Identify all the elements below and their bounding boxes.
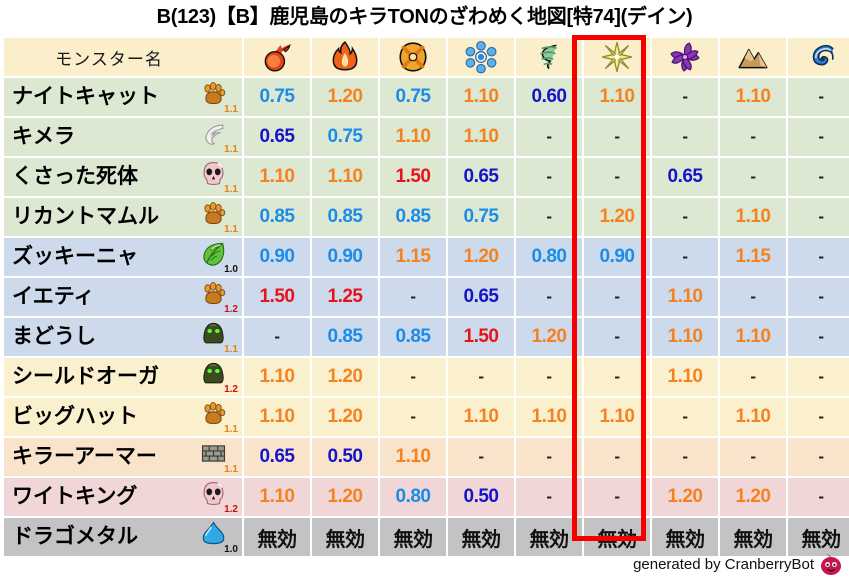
resistance-value-cell: 0.90 [584, 238, 650, 276]
resistance-value-cell: - [584, 278, 650, 316]
resistance-value-cell: 1.50 [380, 158, 446, 196]
resistance-value-cell: 0.65 [244, 438, 310, 476]
resistance-value-cell: - [720, 278, 786, 316]
resistance-value-cell: 0.85 [380, 318, 446, 356]
resistance-value-cell: - [652, 398, 718, 436]
monster-name-cell[interactable]: キメラ1.1 [4, 118, 242, 156]
resistance-value-cell: 1.10 [720, 318, 786, 356]
table-row: キラーアーマー1.10.650.501.10------ [4, 438, 849, 476]
resistance-value-cell: - [516, 118, 582, 156]
monster-version-label: 1.2 [224, 385, 238, 395]
monster-name-cell[interactable]: キラーアーマー1.1 [4, 438, 242, 476]
resistance-value-cell: - [788, 278, 849, 316]
column-header-tornado[interactable] [516, 38, 582, 76]
resistance-value-cell: 0.85 [312, 198, 378, 236]
resistance-value-cell: 1.20 [312, 478, 378, 516]
monster-version-label: 1.1 [224, 225, 238, 235]
resistance-value-cell: 1.10 [448, 398, 514, 436]
resistance-value-cell: 1.10 [448, 78, 514, 116]
monster-badge: 1.2 [198, 360, 238, 394]
table-row: ワイトキング1.21.101.200.800.50--1.201.20- [4, 478, 849, 516]
column-header-snowflake[interactable] [448, 38, 514, 76]
resistance-value-cell: 無効 [244, 518, 310, 556]
monster-name-label: シールドオーガ [12, 358, 159, 396]
column-header-flame[interactable] [312, 38, 378, 76]
footer-credit-label: generated by CranberryBot [633, 556, 814, 573]
resistance-value-cell: 0.85 [380, 198, 446, 236]
resistance-value-cell: - [516, 198, 582, 236]
monster-name-cell[interactable]: ドラゴメタル1.0 [4, 518, 242, 556]
slime-blue-icon [200, 520, 227, 547]
monster-name-label: イエティ [12, 278, 95, 316]
resistance-value-cell: 1.20 [312, 78, 378, 116]
resistance-value-cell: 無効 [380, 518, 446, 556]
monster-name-label: キラーアーマー [12, 438, 157, 476]
monster-badge: 1.1 [198, 400, 238, 434]
resistance-value-cell: 1.10 [584, 78, 650, 116]
resistance-table: モンスター名 ナイトキャット1.10.751.200.751.100.601.1… [2, 36, 849, 558]
table-header-row: モンスター名 [4, 38, 849, 76]
resistance-value-cell: - [788, 198, 849, 236]
wave-icon [804, 40, 838, 74]
resistance-value-cell: 1.20 [516, 318, 582, 356]
dark-pinwheel-icon [668, 40, 702, 74]
monster-version-label: 1.2 [224, 305, 238, 315]
monster-version-label: 1.1 [224, 105, 238, 115]
resistance-value-cell: - [720, 358, 786, 396]
resistance-value-cell: 1.10 [448, 118, 514, 156]
resistance-value-cell: 1.10 [244, 398, 310, 436]
resistance-value-cell: 1.20 [720, 478, 786, 516]
resistance-value-cell: 1.20 [584, 198, 650, 236]
resistance-value-cell: - [516, 358, 582, 396]
table-row: ビッグハット1.11.101.20-1.101.101.10-1.10- [4, 398, 849, 436]
column-header-explosion[interactable] [380, 38, 446, 76]
resistance-value-cell: - [652, 118, 718, 156]
resistance-value-cell: 0.80 [380, 478, 446, 516]
resistance-value-cell: - [448, 358, 514, 396]
meteor-fire-icon [260, 40, 294, 74]
table-row: まどうし1.1-0.850.851.501.20-1.101.10- [4, 318, 849, 356]
resistance-value-cell: - [516, 478, 582, 516]
resistance-value-cell: - [380, 278, 446, 316]
resistance-value-cell: 1.50 [244, 278, 310, 316]
monster-name-label: まどうし [12, 318, 96, 356]
resistance-value-cell: 1.20 [312, 358, 378, 396]
resistance-value-cell: - [788, 78, 849, 116]
column-header-mountain[interactable] [720, 38, 786, 76]
monster-name-label: ドラゴメタル [12, 518, 138, 556]
monster-name-cell[interactable]: ナイトキャット1.1 [4, 78, 242, 116]
monster-name-label: ナイトキャット [12, 78, 159, 116]
column-header-monster-name: モンスター名 [4, 38, 242, 76]
wing-icon [200, 120, 227, 147]
resistance-value-cell: 1.10 [244, 158, 310, 196]
resistance-value-cell: 0.50 [312, 438, 378, 476]
monster-version-label: 1.2 [224, 505, 238, 515]
monster-name-label: リカントマムル [12, 198, 159, 236]
resistance-value-cell: - [788, 478, 849, 516]
column-header-wave[interactable] [788, 38, 849, 76]
monster-badge: 1.1 [198, 440, 238, 474]
resistance-value-cell: 0.90 [312, 238, 378, 276]
resistance-value-cell: - [516, 438, 582, 476]
monster-name-cell[interactable]: ズッキーニャ1.0 [4, 238, 242, 276]
resistance-value-cell: 0.75 [244, 78, 310, 116]
resistance-value-cell: - [720, 118, 786, 156]
monster-version-label: 1.1 [224, 185, 238, 195]
monster-name-label: くさった死体 [12, 158, 138, 196]
monster-badge: 1.2 [198, 280, 238, 314]
resistance-value-cell: 1.10 [652, 278, 718, 316]
monster-name-cell[interactable]: ビッグハット1.1 [4, 398, 242, 436]
resistance-value-cell: - [584, 118, 650, 156]
resistance-value-cell: - [788, 398, 849, 436]
resistance-value-cell: 無効 [448, 518, 514, 556]
monster-version-label: 1.1 [224, 345, 238, 355]
column-header-meteor-fire[interactable] [244, 38, 310, 76]
resistance-value-cell: - [788, 238, 849, 276]
resistance-value-cell: 0.65 [448, 158, 514, 196]
mountain-icon [736, 40, 770, 74]
monster-version-label: 1.0 [224, 265, 238, 275]
skull-icon [200, 160, 227, 187]
resistance-value-cell: 1.10 [380, 438, 446, 476]
resistance-value-cell: - [652, 198, 718, 236]
resistance-value-cell: - [584, 158, 650, 196]
resistance-value-cell: 0.50 [448, 478, 514, 516]
resistance-value-cell: 1.10 [652, 318, 718, 356]
slime-dark-icon [200, 360, 227, 387]
resistance-value-cell: 無効 [516, 518, 582, 556]
monster-badge: 1.1 [198, 320, 238, 354]
cranberry-slime-icon [819, 552, 843, 576]
resistance-value-cell: - [380, 398, 446, 436]
resistance-value-cell: 1.15 [720, 238, 786, 276]
flame-icon [328, 40, 362, 74]
resistance-value-cell: - [516, 158, 582, 196]
monster-name-cell[interactable]: まどうし1.1 [4, 318, 242, 356]
explosion-icon [396, 40, 430, 74]
monster-badge: 1.2 [198, 480, 238, 514]
resistance-value-cell: 0.75 [380, 78, 446, 116]
monster-name-cell[interactable]: イエティ1.2 [4, 278, 242, 316]
resistance-value-cell: 1.10 [720, 398, 786, 436]
paw-icon [200, 400, 227, 427]
paw-icon [200, 200, 227, 227]
monster-name-label: ビッグハット [12, 398, 138, 436]
resistance-value-cell: - [652, 78, 718, 116]
resistance-value-cell: - [788, 118, 849, 156]
table-row: ズッキーニャ1.00.900.901.151.200.800.90-1.15- [4, 238, 849, 276]
resistance-value-cell: 1.50 [448, 318, 514, 356]
brick-wall-icon [200, 440, 227, 467]
resistance-value-cell: 無効 [312, 518, 378, 556]
monster-badge: 1.1 [198, 200, 238, 234]
resistance-value-cell: - [584, 358, 650, 396]
lightning-star-icon [600, 40, 634, 74]
resistance-value-cell: - [788, 318, 849, 356]
resistance-value-cell: 1.10 [312, 158, 378, 196]
resistance-value-cell: 1.10 [720, 198, 786, 236]
monster-version-label: 1.1 [224, 465, 238, 475]
resistance-value-cell: 0.75 [448, 198, 514, 236]
slime-dark-icon [200, 320, 227, 347]
monster-name-label: ズッキーニャ [12, 238, 138, 276]
skull-icon [200, 480, 227, 507]
footer-credit: generated by CranberryBot [633, 549, 843, 579]
table-row: キメラ1.10.650.751.101.10----- [4, 118, 849, 156]
resistance-value-cell: 1.10 [380, 118, 446, 156]
monster-badge: 1.1 [198, 120, 238, 154]
resistance-value-cell: 0.65 [652, 158, 718, 196]
resistance-value-cell: - [788, 438, 849, 476]
resistance-value-cell: - [720, 158, 786, 196]
resistance-value-cell: - [448, 438, 514, 476]
resistance-value-cell: 0.85 [312, 318, 378, 356]
table-row: リカントマムル1.10.850.850.850.75-1.20-1.10- [4, 198, 849, 236]
snowflake-icon [464, 40, 498, 74]
monster-version-label: 1.0 [224, 545, 238, 555]
paw-icon [200, 280, 227, 307]
monster-name-cell[interactable]: ワイトキング1.2 [4, 478, 242, 516]
tornado-icon [532, 40, 566, 74]
table-row: くさった死体1.11.101.101.500.65--0.65-- [4, 158, 849, 196]
table-row: ナイトキャット1.10.751.200.751.100.601.10-1.10- [4, 78, 849, 116]
resistance-value-cell: 1.10 [652, 358, 718, 396]
resistance-value-cell: 0.65 [448, 278, 514, 316]
monster-name-cell[interactable]: リカントマムル1.1 [4, 198, 242, 236]
monster-badge: 1.1 [198, 80, 238, 114]
resistance-value-cell: - [788, 158, 849, 196]
monster-name-cell[interactable]: シールドオーガ1.2 [4, 358, 242, 396]
monster-version-label: 1.1 [224, 425, 238, 435]
table-row: シールドオーガ1.21.101.20----1.10-- [4, 358, 849, 396]
monster-name-label: キメラ [12, 118, 75, 156]
resistance-value-cell: - [516, 278, 582, 316]
paw-icon [200, 80, 227, 107]
monster-badge: 1.0 [198, 520, 238, 554]
resistance-value-cell: - [380, 358, 446, 396]
monster-name-cell[interactable]: くさった死体1.1 [4, 158, 242, 196]
table-body: ナイトキャット1.10.751.200.751.100.601.10-1.10-… [4, 78, 849, 556]
leaf-icon [200, 240, 227, 267]
resistance-value-cell: 1.10 [244, 478, 310, 516]
monster-badge: 1.1 [198, 160, 238, 194]
resistance-value-cell: 0.65 [244, 118, 310, 156]
resistance-value-cell: 0.75 [312, 118, 378, 156]
resistance-value-cell: - [584, 318, 650, 356]
column-header-dark-pinwheel[interactable] [652, 38, 718, 76]
resistance-value-cell: 1.20 [652, 478, 718, 516]
resistance-value-cell: 1.10 [720, 78, 786, 116]
resistance-value-cell: 1.10 [584, 398, 650, 436]
monster-name-label: ワイトキング [12, 478, 137, 516]
monster-badge: 1.0 [198, 240, 238, 274]
resistance-value-cell: 0.90 [244, 238, 310, 276]
monster-version-label: 1.1 [224, 145, 238, 155]
resistance-value-cell: - [652, 438, 718, 476]
resistance-value-cell: 1.20 [312, 398, 378, 436]
resistance-value-cell: 1.15 [380, 238, 446, 276]
column-header-lightning-star[interactable] [584, 38, 650, 76]
resistance-value-cell: - [652, 238, 718, 276]
resistance-value-cell: - [244, 318, 310, 356]
resistance-value-cell: 1.10 [244, 358, 310, 396]
resistance-value-cell: 1.25 [312, 278, 378, 316]
resistance-value-cell: - [720, 438, 786, 476]
table-row: イエティ1.21.501.25-0.65--1.10-- [4, 278, 849, 316]
resistance-value-cell: 1.10 [516, 398, 582, 436]
resistance-value-cell: 0.80 [516, 238, 582, 276]
resistance-value-cell: - [788, 358, 849, 396]
resistance-value-cell: 0.60 [516, 78, 582, 116]
resistance-value-cell: - [584, 438, 650, 476]
resistance-value-cell: - [584, 478, 650, 516]
resistance-value-cell: 0.85 [244, 198, 310, 236]
page-title: B(123)【B】鹿児島のキラTONのざわめく地図[特74](デイン) [0, 0, 849, 36]
resistance-value-cell: 1.20 [448, 238, 514, 276]
